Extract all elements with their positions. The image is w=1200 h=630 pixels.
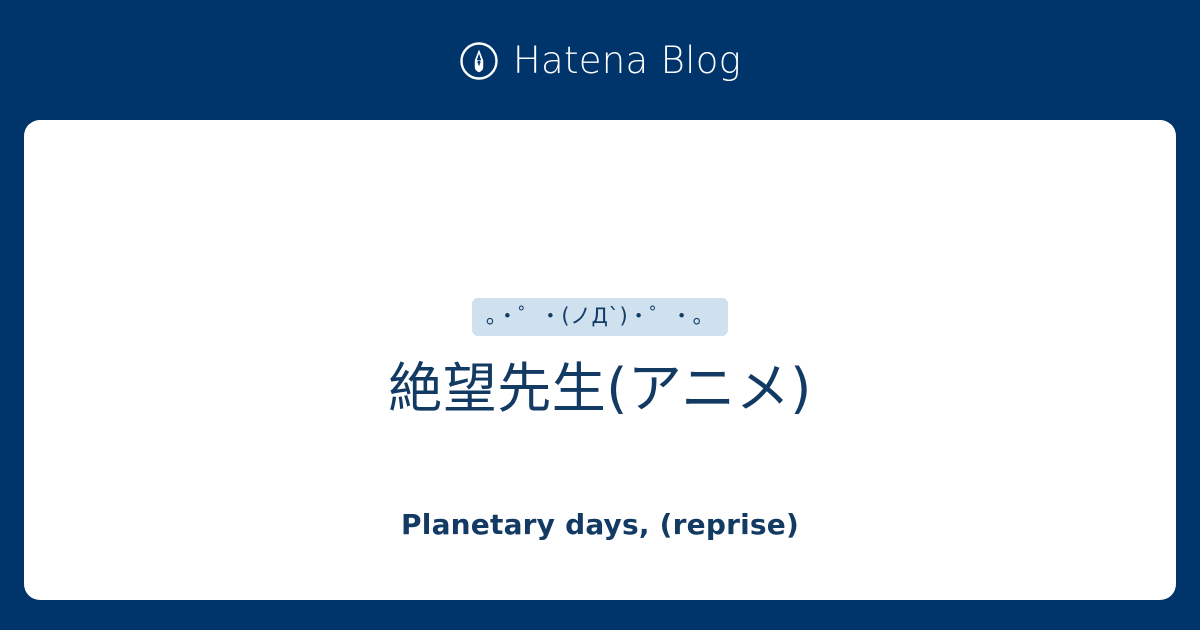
hatena-pen-nib-icon xyxy=(459,41,499,81)
open-graph-card: Hatena Blog 。・゜・(ノД`)・゜・。 絶望先生(アニメ) Plan… xyxy=(0,0,1200,630)
brand-header: Hatena Blog xyxy=(0,0,1200,120)
brand-name: Hatena Blog xyxy=(513,42,741,79)
entry-card: 。・゜・(ノД`)・゜・。 絶望先生(アニメ) Planetary days, … xyxy=(24,120,1176,600)
entry-title: 絶望先生(アニメ) xyxy=(388,356,812,422)
entry-category-badge: 。・゜・(ノД`)・゜・。 xyxy=(472,298,728,335)
blog-name: Planetary days, (reprise) xyxy=(24,508,1176,542)
